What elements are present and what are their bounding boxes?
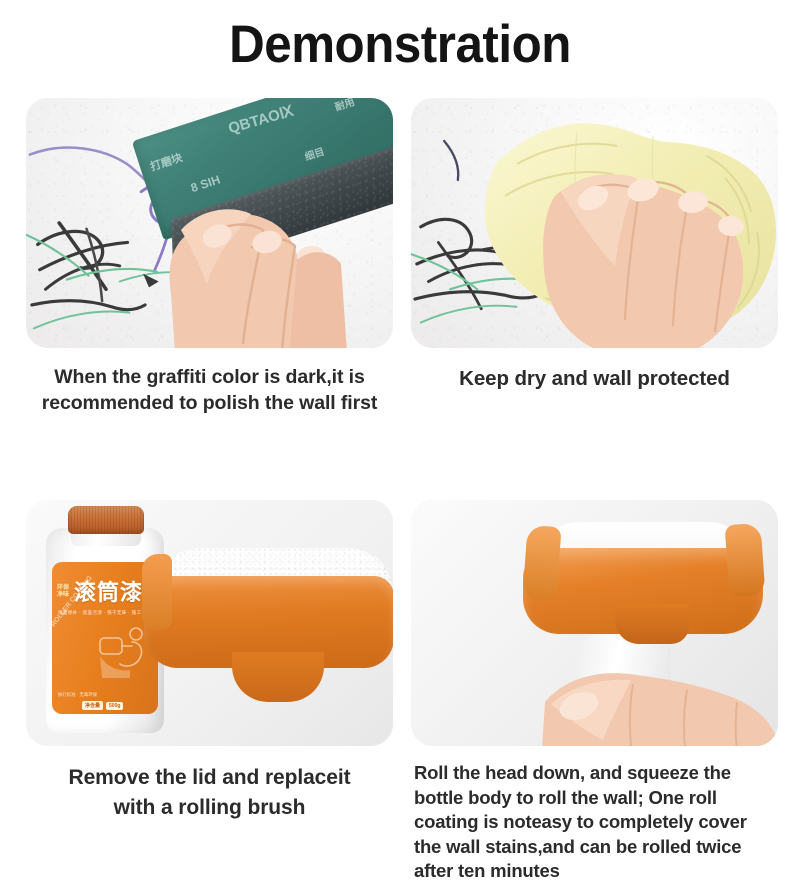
roller-head — [523, 522, 763, 662]
hand-squeezing-bottle — [537, 644, 778, 746]
roller-stem — [615, 604, 689, 644]
roller-stem — [232, 652, 324, 702]
label-footer-text: 执行标准 · 无毒环保 — [58, 692, 97, 698]
sanding-block-brand-text: QBTAOⅨ — [226, 102, 295, 138]
step-2-photo — [411, 98, 778, 348]
roller-cradle-lip — [142, 554, 172, 630]
step-3-caption: Remove the lid and replaceit with a roll… — [26, 763, 393, 823]
step-1-caption: When the graffiti color is dark,it is re… — [26, 364, 393, 416]
demo-step-1: QBTAOⅨ 8 SIH 打磨块 细目 耐用 — [26, 98, 402, 416]
step-1-photo: QBTAOⅨ 8 SIH 打磨块 细目 耐用 — [26, 98, 393, 348]
demo-step-2: Keep dry and wall protected — [402, 98, 778, 416]
step-3-photo: 环保净味 滚筒漆 墙面修补 · 遮盖污渍 · 快干无味 · 施工简便 ROLLE… — [26, 500, 393, 746]
hand-holding-sanding-block — [159, 144, 393, 348]
roller-brush-attachment — [144, 548, 393, 718]
demo-step-3: 环保净味 滚筒漆 墙面修补 · 遮盖污渍 · 快干无味 · 施工简便 ROLLE… — [26, 500, 402, 884]
demo-grid: QBTAOⅨ 8 SIH 打磨块 细目 耐用 — [26, 98, 778, 884]
label-badge-weight: 500g — [106, 702, 123, 710]
label-roller-illustration — [90, 622, 152, 684]
page-title: Demonstration — [28, 14, 772, 76]
step-4-photo — [411, 500, 778, 746]
demo-row-top: QBTAOⅨ 8 SIH 打磨块 细目 耐用 — [26, 98, 778, 416]
roller-ear-left — [522, 525, 561, 601]
step-2-caption: Keep dry and wall protected — [411, 365, 778, 392]
roller-ear-right — [725, 523, 766, 597]
demo-row-bottom: 环保净味 滚筒漆 墙面修补 · 遮盖污渍 · 快干无味 · 施工简便 ROLLE… — [26, 500, 778, 884]
hand-wiping-cloth — [515, 134, 765, 348]
bottle-cap — [68, 506, 144, 534]
step-4-caption: Roll the head down, and squeeze the bott… — [411, 761, 778, 884]
label-weight-badge: 净含量 500g — [82, 701, 123, 710]
demo-step-4: Roll the head down, and squeeze the bott… — [402, 500, 778, 884]
label-subtitle: 墙面修补 · 遮盖污渍 · 快干无味 · 施工简便 — [58, 610, 154, 616]
sanding-block-cn-text-3: 耐用 — [333, 98, 357, 114]
label-badge-title: 净含量 — [82, 701, 103, 710]
